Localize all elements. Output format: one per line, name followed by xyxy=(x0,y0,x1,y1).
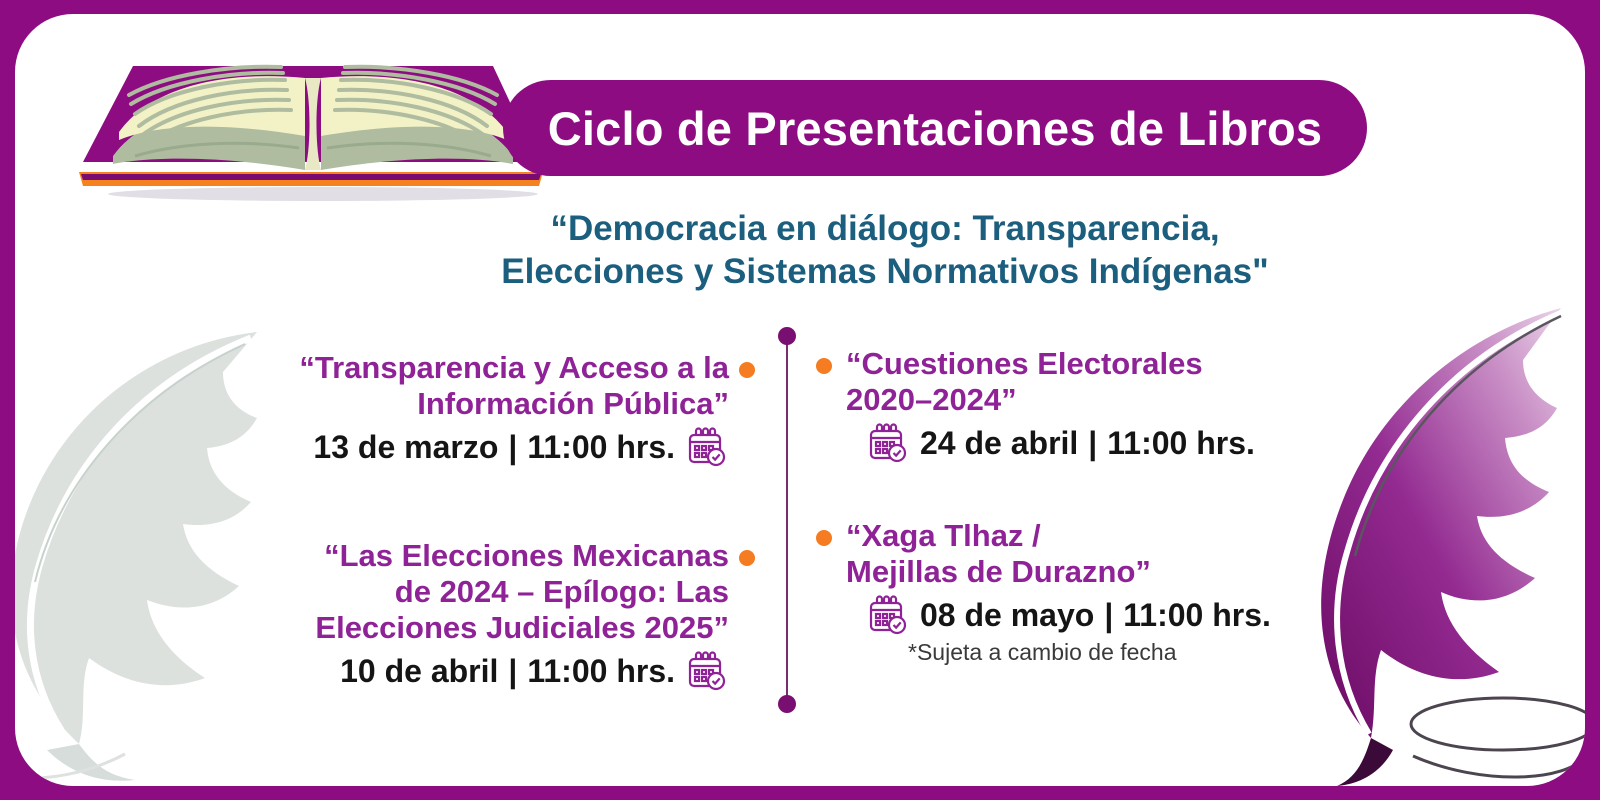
subtitle-line-1: “Democracia en diálogo: Transparencia, xyxy=(415,207,1355,250)
date-change-note: *Sujeta a cambio de fecha xyxy=(846,639,1350,666)
divider-dot-bottom-icon xyxy=(778,695,796,713)
event-date: 13 de marzo xyxy=(313,429,498,466)
left-column: “Transparencia y Acceso a la Información… xyxy=(165,350,755,694)
calendar-check-icon xyxy=(685,426,729,470)
event-time: 11:00 hrs. xyxy=(527,429,675,466)
book-title: “Cuestiones Electorales 2020–2024” xyxy=(846,346,1350,418)
subtitle: “Democracia en diálogo: Transparencia, E… xyxy=(415,207,1355,294)
event-date: 24 de abril xyxy=(920,425,1078,462)
orange-bullet-icon xyxy=(816,358,832,374)
book-title: “Xaga Tlhaz / Mejillas de Durazno” xyxy=(846,518,1350,590)
book-title-line-3: Elecciones Judiciales 2025” xyxy=(165,610,729,646)
subtitle-line-2: Elecciones y Sistemas Normativos Indígen… xyxy=(415,250,1355,293)
vertical-divider xyxy=(786,332,788,708)
date-time-separator: | xyxy=(1104,597,1113,634)
book-title-line-2: Mejillas de Durazno” xyxy=(846,554,1350,590)
book-title-line-1: “Xaga Tlhaz / xyxy=(846,518,1350,554)
event-time: 11:00 hrs. xyxy=(1123,597,1271,634)
poster-canvas: Ciclo de Presentaciones de Libros “Democ… xyxy=(15,14,1585,786)
event-date: 10 de abril xyxy=(340,653,498,690)
calendar-check-icon xyxy=(866,422,910,466)
event-time: 11:00 hrs. xyxy=(527,653,675,690)
calendar-check-icon xyxy=(866,594,910,638)
book-title: “Las Elecciones Mexicanas de 2024 – Epíl… xyxy=(165,538,729,646)
book-title-line-2: 2020–2024” xyxy=(846,382,1350,418)
orange-bullet-icon xyxy=(739,550,755,566)
divider-dot-top-icon xyxy=(778,327,796,345)
orange-bullet-icon xyxy=(739,362,755,378)
open-book-illustration xyxy=(73,44,553,209)
book-entry: “Las Elecciones Mexicanas de 2024 – Epíl… xyxy=(165,538,755,694)
title-banner: Ciclo de Presentaciones de Libros xyxy=(503,80,1367,176)
calendar-check-icon xyxy=(685,650,729,694)
poster: Ciclo de Presentaciones de Libros “Democ… xyxy=(0,0,1600,800)
book-title: “Transparencia y Acceso a la Información… xyxy=(165,350,729,422)
book-title-line-1: “Las Elecciones Mexicanas xyxy=(165,538,729,574)
date-time-separator: | xyxy=(1088,425,1097,462)
book-entry: “Xaga Tlhaz / Mejillas de Durazno” xyxy=(810,518,1350,666)
right-column: “Cuestiones Electorales 2020–2024” xyxy=(810,346,1350,666)
date-time-separator: | xyxy=(508,653,517,690)
orange-bullet-icon xyxy=(816,530,832,546)
page-title: Ciclo de Presentaciones de Libros xyxy=(548,101,1323,156)
book-title-line-2: de 2024 – Epílogo: Las xyxy=(165,574,729,610)
event-datetime: 24 de abril | 11:00 hrs. xyxy=(846,422,1350,466)
book-entry: “Transparencia y Acceso a la Información… xyxy=(165,350,755,470)
book-title-line-2: Información Pública” xyxy=(165,386,729,422)
event-datetime: 13 de marzo | 11:00 hrs. xyxy=(165,426,729,470)
event-datetime: 08 de mayo | 11:00 hrs. xyxy=(846,594,1350,638)
book-title-line-1: “Cuestiones Electorales xyxy=(846,346,1350,382)
event-date: 08 de mayo xyxy=(920,597,1094,634)
event-time: 11:00 hrs. xyxy=(1107,425,1255,462)
book-title-line-1: “Transparencia y Acceso a la xyxy=(165,350,729,386)
book-entry: “Cuestiones Electorales 2020–2024” xyxy=(810,346,1350,466)
date-time-separator: | xyxy=(508,429,517,466)
event-datetime: 10 de abril | 11:00 hrs. xyxy=(165,650,729,694)
